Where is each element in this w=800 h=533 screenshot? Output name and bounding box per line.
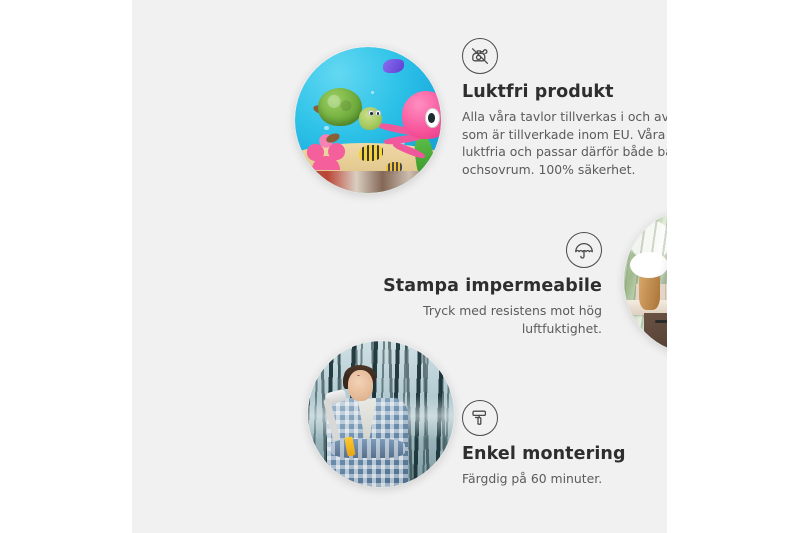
smile	[357, 375, 360, 376]
feature-waterproof: Stampa impermeabile Tryck med resistens …	[352, 232, 602, 337]
icon-wrap	[462, 38, 667, 74]
photo-bathroom-leaf-wallpaper	[624, 208, 667, 354]
octopus-tentacle	[392, 141, 426, 160]
photo-underwater-cartoon-wallpaper	[295, 47, 441, 193]
content-panel: Luktfri produkt Alla våra tavlor tillver…	[132, 0, 667, 533]
wooden-vanity-cabinet	[644, 313, 667, 354]
icon-wrap	[462, 400, 667, 436]
fish-striped	[359, 145, 382, 161]
turtle-eye	[375, 110, 381, 116]
sea-turtle	[315, 85, 379, 138]
feature-body: Tryck med resistens mot hög luftfuktighe…	[352, 302, 602, 337]
turtle-eye	[368, 110, 374, 116]
feature-body: Alla våra tavlor tillverkas i och av pro…	[462, 108, 667, 178]
feature-body: Färgdig på 60 minuter.	[462, 470, 667, 488]
icon-wrap	[352, 232, 602, 268]
photo-decorator-forest-wallpaper	[308, 341, 454, 487]
octopus	[388, 91, 441, 158]
paint-roller-icon	[462, 400, 498, 436]
feature-title: Stampa impermeabile	[352, 276, 602, 296]
crossed-arms	[331, 439, 406, 458]
infographic-page: Luktfri produkt Alla våra tavlor tillver…	[0, 0, 800, 533]
turtle-head	[359, 107, 382, 130]
face	[348, 370, 373, 401]
white-flowers	[630, 252, 667, 278]
feature-odourless: Luktfri produkt Alla våra tavlor tillver…	[462, 38, 667, 179]
feature-title: Luktfri produkt	[462, 82, 667, 102]
decorator-person	[326, 367, 411, 487]
feature-assembly: Enkel montering Färgdig på 60 minuter.	[462, 400, 667, 488]
feature-title: Enkel montering	[462, 444, 667, 464]
no-fragrance-icon	[462, 38, 498, 74]
seabed-strip	[295, 171, 441, 193]
umbrella-icon	[566, 232, 602, 268]
turtle-shell	[318, 88, 362, 126]
